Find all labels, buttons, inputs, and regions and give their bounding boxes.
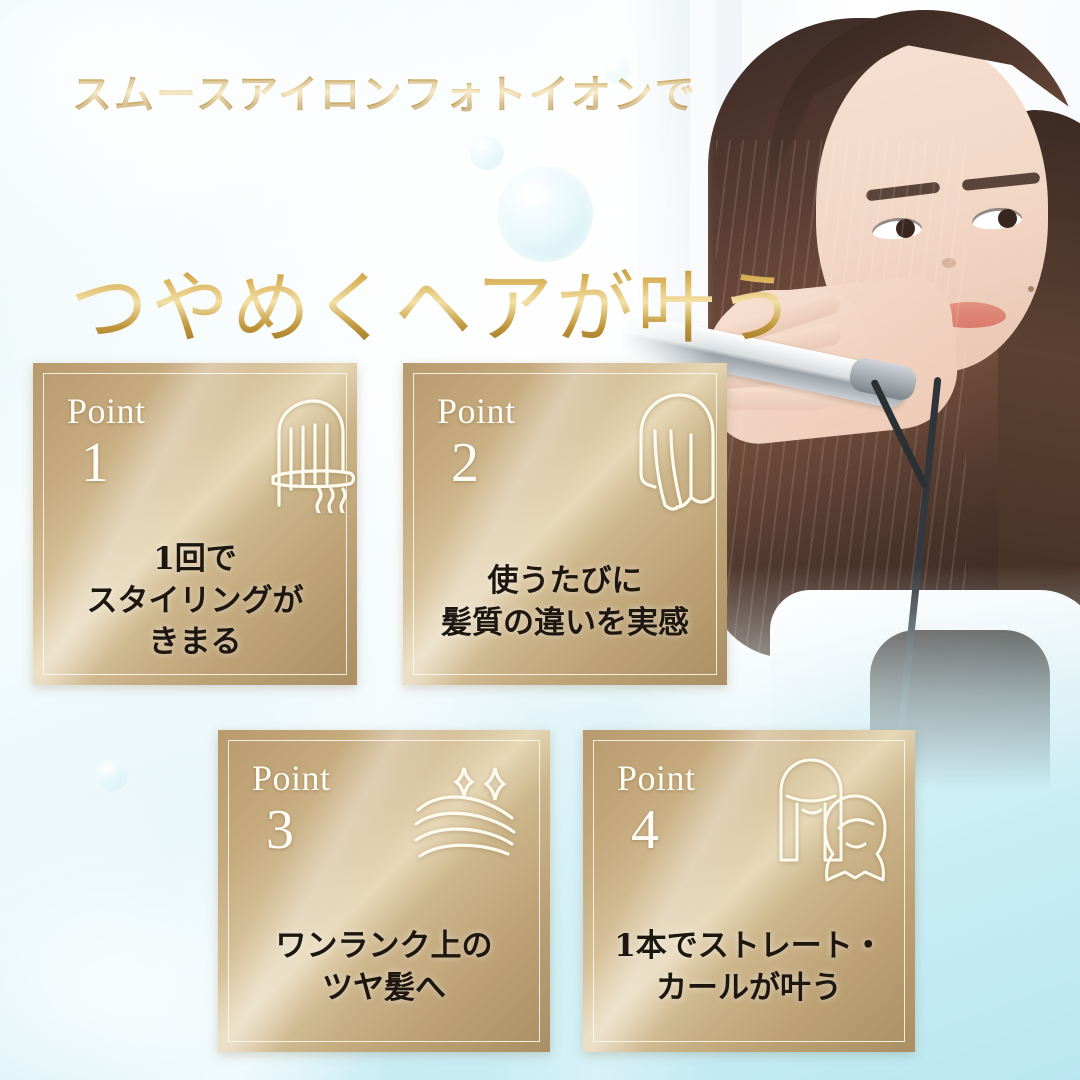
caption-line: ワンランク上の [218, 926, 550, 968]
point-label-2: Point 2 [437, 393, 516, 491]
caption-line: カールが叶う [583, 968, 915, 1010]
point-card-3[interactable]: Point 3 ワンランク上の ツヤ髪へ [218, 730, 550, 1052]
point-card-1[interactable]: Point 1 1回で スタイリングが きまる [33, 363, 357, 685]
point-caption-1: 1回で スタイリングが きまる [33, 539, 357, 664]
point-word-4: Point [617, 758, 696, 798]
caption-line: 髪質の違いを実感 [403, 603, 727, 645]
point-number-3: 3 [266, 802, 331, 858]
long-hair-profile-icon [625, 389, 725, 517]
point-number-2: 2 [451, 435, 516, 491]
caption-line: ツヤ髪へ [218, 968, 550, 1010]
point-word-1: Point [67, 391, 146, 431]
headline-line-2: つやめくヘアが叶う [70, 246, 799, 358]
point-label-4: Point 4 [617, 760, 696, 858]
point-number-4: 4 [631, 802, 696, 858]
shiny-hair-sparkle-icon [408, 760, 526, 870]
water-bubble-icon [96, 760, 128, 792]
point-caption-4: 1本でストレート・ カールが叶う [583, 926, 915, 1009]
point-card-2[interactable]: Point 2 使うたびに 髪質の違いを実感 [403, 363, 727, 685]
point-card-4[interactable]: Point 4 1本でストレート・ カールが叶う [583, 730, 915, 1052]
point-number-1: 1 [81, 435, 146, 491]
point-label-3: Point 3 [252, 760, 331, 858]
headline-kicker: スムースアイロンフォトイオンで [72, 62, 697, 120]
caption-line: 使うたびに [403, 561, 727, 603]
point-word-3: Point [252, 758, 331, 798]
promo-banner: スムースアイロンフォトイオンで うるっと つやめくヘアが叶う Point 1 1… [0, 0, 1080, 1080]
caption-line: 1本でストレート・ [583, 926, 915, 968]
point-caption-2: 使うたびに 髪質の違いを実感 [403, 561, 727, 644]
point-label-1: Point 1 [67, 393, 146, 491]
caption-line: きまる [33, 622, 357, 664]
point-caption-3: ワンランク上の ツヤ髪へ [218, 926, 550, 1009]
straight-and-curl-women-icon [759, 756, 899, 890]
caption-line: スタイリングが [33, 581, 357, 623]
caption-line: 1回で [33, 539, 357, 581]
point-word-2: Point [437, 391, 516, 431]
flat-iron-hair-icon [255, 393, 365, 513]
